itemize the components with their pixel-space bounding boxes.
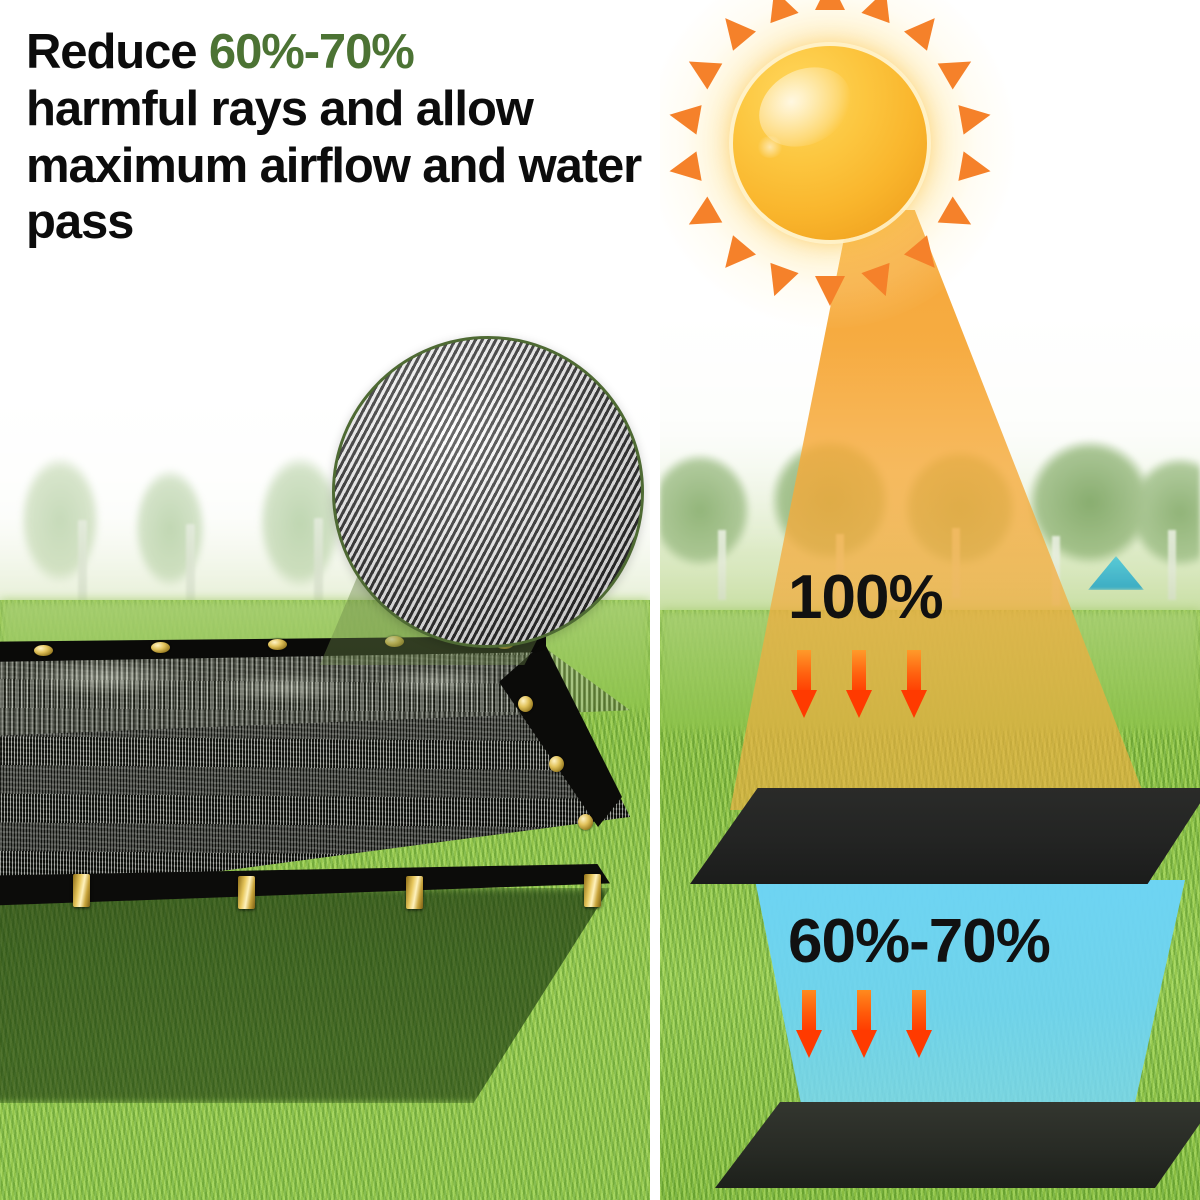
sun-icon [695, 8, 965, 278]
tree-trunk [718, 530, 726, 600]
grommet-clip [238, 876, 255, 909]
label-transmitted-percent: 60%-70% [788, 906, 1050, 977]
panel-divider [650, 0, 660, 1200]
sun-highlight-small [757, 136, 783, 158]
label-incoming-percent: 100% [788, 562, 943, 633]
sun-ray [958, 100, 993, 135]
tree-trunk [314, 518, 323, 604]
tree-trunk [78, 520, 87, 606]
grommet [151, 642, 170, 653]
down-arrow-icon [906, 990, 932, 1058]
sun-ray [667, 100, 702, 135]
grommet [578, 814, 593, 830]
headline-rest: harmful rays and allow maximum airflow a… [26, 82, 641, 250]
down-arrow-icon [901, 650, 927, 718]
right-panel-diagram: 100% 60%-70% [660, 0, 1200, 1200]
sun-ray [815, 276, 845, 306]
incoming-arrows [791, 650, 927, 718]
grommet [268, 639, 287, 650]
grommet [34, 645, 53, 656]
sun-ray [958, 151, 993, 186]
mesh-closeup-shading [335, 339, 641, 645]
grommet-clip [73, 874, 90, 907]
transmitted-arrows [796, 990, 932, 1058]
shade-cloth-tarp [0, 636, 630, 902]
headline-prefix: Reduce [26, 25, 209, 79]
down-arrow-icon [851, 990, 877, 1058]
page-title: Reduce 60%-70% harmful rays and allow ma… [26, 24, 646, 251]
grommet-clip [406, 876, 423, 909]
grommet [518, 696, 533, 712]
sun-ray [667, 151, 702, 186]
grommet [549, 756, 564, 772]
tree-trunk [186, 524, 195, 610]
sun-ray [815, 0, 845, 10]
infographic-root: 100% 60%-70% Reduce 60%-70% harmful rays… [0, 0, 1200, 1200]
grommet-clip [584, 874, 601, 907]
headline-highlight: 60%-70% [209, 25, 414, 79]
tree-trunk [1168, 530, 1176, 600]
down-arrow-icon [796, 990, 822, 1058]
shade-cloth-slab-upper [690, 788, 1200, 884]
down-arrow-icon [846, 650, 872, 718]
down-arrow-icon [791, 650, 817, 718]
shade-cloth-slab-lower [715, 1102, 1200, 1188]
mesh-weave-closeup-circle [332, 336, 644, 648]
